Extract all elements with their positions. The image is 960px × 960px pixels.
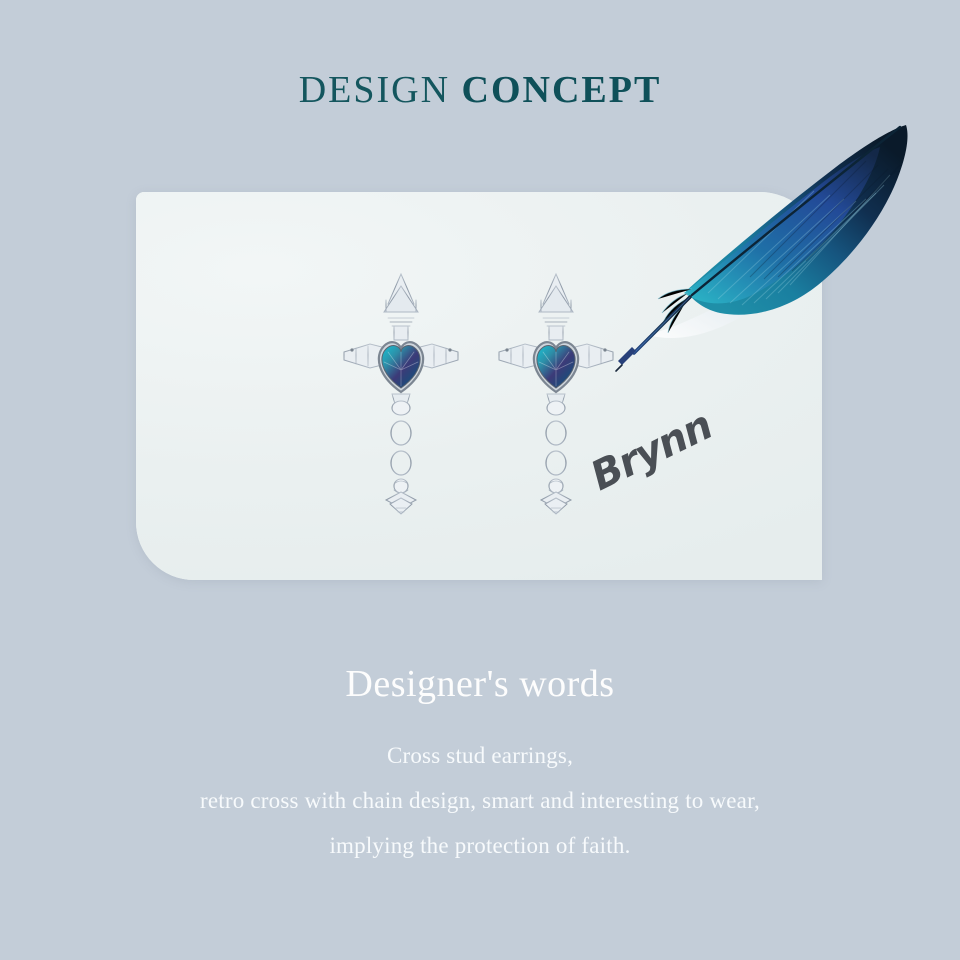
design-concept-card: Brynn [136, 192, 822, 580]
designer-words-line-3: implying the protection of faith. [0, 830, 960, 861]
card-surface: Brynn [136, 192, 822, 580]
page-title-light: DESIGN [299, 69, 450, 111]
page-title: DESIGN CONCEPT [0, 68, 960, 112]
left-cross-earring [326, 252, 476, 522]
page-title-bold: CONCEPT [462, 69, 662, 111]
designer-words-heading: Designer's words [0, 662, 960, 706]
designer-words-section: Designer's words Cross stud earrings, re… [0, 662, 960, 875]
designer-words-line-2: retro cross with chain design, smart and… [0, 785, 960, 816]
designer-words-line-1: Cross stud earrings, [0, 740, 960, 771]
